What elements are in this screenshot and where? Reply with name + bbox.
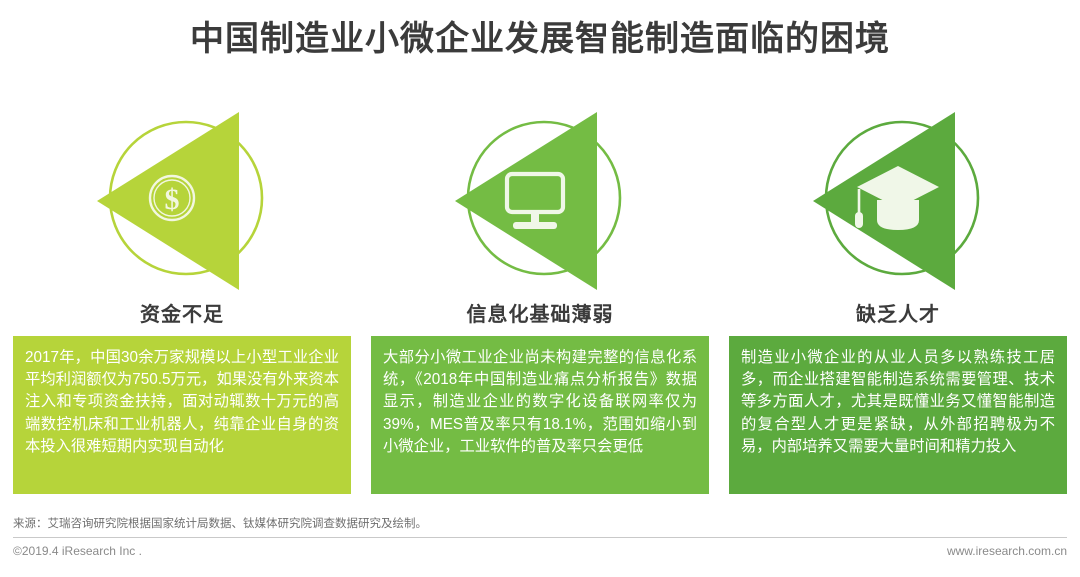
footer-bottom-row: ©2019.4 iResearch Inc . www.iresearch.co…: [13, 538, 1067, 558]
monitor-icon: [445, 104, 635, 292]
column-talent: 缺乏人才 制造业小微企业的从业人员多以熟练技工居多，而企业搭建智能制造系统需要管…: [729, 100, 1067, 510]
column-body-card: 大部分小微工业企业尚未构建完整的信息化系统，《2018年中国制造业痛点分析报告》…: [371, 336, 709, 494]
column-heading: 资金不足: [140, 300, 224, 330]
graduation-cap-icon: [803, 104, 993, 292]
footer-copyright: ©2019.4 iResearch Inc .: [13, 544, 142, 558]
content-columns: $ 资金不足 2017年，中国30余万家规模以上小型工业企业平均利润额仅为750…: [0, 100, 1080, 510]
column-heading: 信息化基础薄弱: [467, 300, 614, 330]
footer-source-note: 来源：艾瑞咨询研究院根据国家统计局数据、钛媒体研究院调查数据研究及绘制。: [13, 516, 1067, 537]
column-heading: 缺乏人才: [856, 300, 940, 330]
page-title-bar: 中国制造业小微企业发展智能制造面临的困境: [0, 16, 1080, 62]
dollar-coin-icon: $: [87, 104, 277, 292]
column-funding: $ 资金不足 2017年，中国30余万家规模以上小型工业企业平均利润额仅为750…: [13, 100, 351, 510]
footer: 来源：艾瑞咨询研究院根据国家统计局数据、钛媒体研究院调查数据研究及绘制。 ©20…: [13, 516, 1067, 558]
column-body-card: 2017年，中国30余万家规模以上小型工业企业平均利润额仅为750.5万元，如果…: [13, 336, 351, 494]
page-title: 中国制造业小微企业发展智能制造面临的困境: [190, 16, 890, 62]
svg-text:$: $: [165, 183, 180, 216]
column-informatization: 信息化基础薄弱 大部分小微工业企业尚未构建完整的信息化系统，《2018年中国制造…: [371, 100, 709, 510]
footer-website-url[interactable]: www.iresearch.com.cn: [947, 544, 1067, 558]
column-body-card: 制造业小微企业的从业人员多以熟练技工居多，而企业搭建智能制造系统需要管理、技术等…: [729, 336, 1067, 494]
